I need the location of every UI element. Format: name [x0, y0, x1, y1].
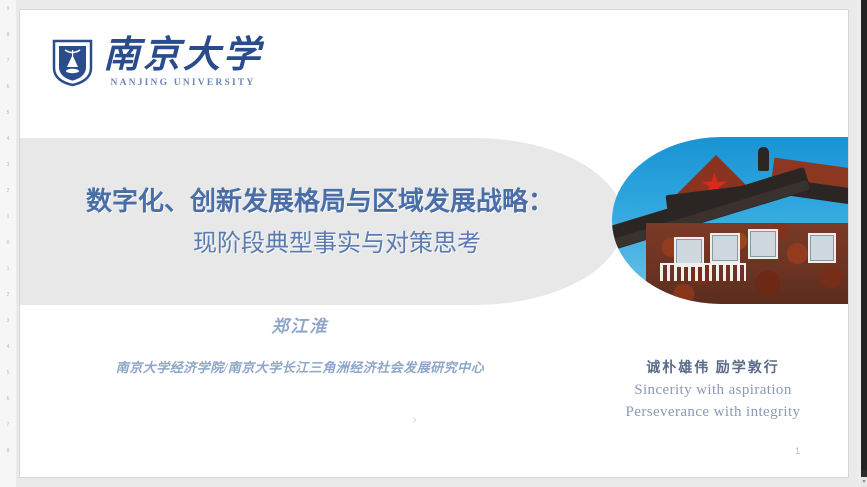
ruler-tick-minor: · [0, 254, 16, 260]
ruler-tick-label: 7 [0, 422, 16, 428]
author-name: 郑江淮 [20, 315, 580, 339]
ruler-tick-label: 9 [0, 6, 16, 12]
motto-english-line2: Perseverance with integrity [588, 401, 838, 423]
ruler-tick-minor: · [0, 384, 16, 390]
ruler-tick-label: 2 [0, 188, 16, 194]
ruler-tick-minor: · [0, 72, 16, 78]
ruler-tick-label: 1 [0, 214, 16, 220]
vertical-scrollbar-thumb[interactable] [861, 0, 867, 470]
vertical-scrollbar-track[interactable]: ▾ [861, 0, 867, 487]
logo-chinese-name: 南京大学 [103, 36, 263, 76]
campus-photo-beidalou [612, 137, 848, 304]
ruler-tick-label: 3 [0, 318, 16, 324]
ruler-tick-label: 4 [0, 344, 16, 350]
ruler-tick-minor: · [0, 98, 16, 104]
ruler-tick-label: 4 [0, 136, 16, 142]
ruler-tick-minor: · [0, 20, 16, 26]
motto-chinese: 诚朴雄伟 励学敦行 [588, 359, 838, 379]
author-block: 郑江淮 南京大学经济学院/南京大学长江三角洲经济社会发展研究中心 [20, 315, 580, 377]
slide-canvas-area[interactable]: 南京大学 NANJING UNIVERSITY [16, 0, 857, 487]
ruler-tick-minor: · [0, 228, 16, 234]
ruler-tick-minor: · [0, 306, 16, 312]
ruler-tick-label: 5 [0, 110, 16, 116]
vertical-ruler[interactable]: 9 · 8 · 7 · 6 · 5 · 4 · 3 · 2 · 1 · 0 · … [0, 0, 17, 487]
ruler-tick-label: 8 [0, 32, 16, 38]
ruler-tick-minor: · [0, 150, 16, 156]
presentation-app-window: 9 · 8 · 7 · 6 · 5 · 4 · 3 · 2 · 1 · 0 · … [0, 0, 867, 487]
slide[interactable]: 南京大学 NANJING UNIVERSITY [20, 10, 848, 477]
building-window [710, 233, 740, 263]
chevron-right-icon: › [412, 414, 417, 427]
ruler-tick-label: 1 [0, 266, 16, 272]
ruler-tick-minor: · [0, 280, 16, 286]
ruler-tick-label: 7 [0, 58, 16, 64]
ruler-tick-minor: · [0, 436, 16, 442]
ruler-tick-minor: · [0, 202, 16, 208]
ruler-tick-minor: · [0, 332, 16, 338]
slide-title-main: 数字化、创新发展格局与区域发展战略： [86, 185, 554, 219]
ruler-tick-label: 0 [0, 240, 16, 246]
university-logo: 南京大学 NANJING UNIVERSITY [52, 36, 263, 89]
ruler-tick-label: 2 [0, 292, 16, 298]
ruler-tick-minor: · [0, 358, 16, 364]
ruler-tick-minor: · [0, 176, 16, 182]
page-number: 1 [795, 446, 800, 457]
slide-header: 南京大学 NANJING UNIVERSITY [20, 10, 848, 138]
ruler-tick-label: 6 [0, 84, 16, 90]
ruler-tick-label: 5 [0, 370, 16, 376]
author-affiliation: 南京大学经济学院/南京大学长江三角洲经济社会发展研究中心 [20, 359, 580, 377]
university-motto: 诚朴雄伟 励学敦行 Sincerity with aspiration Pers… [588, 359, 838, 423]
building-window [808, 233, 836, 263]
ruler-tick-minor: · [0, 124, 16, 130]
logo-wordmark: 南京大学 NANJING UNIVERSITY [103, 36, 263, 89]
scroll-down-icon[interactable]: ▾ [861, 477, 867, 487]
ruler-tick-label: 6 [0, 396, 16, 402]
motto-english-line1: Sincerity with aspiration [588, 379, 838, 401]
shield-crest-icon [52, 38, 93, 87]
roof-finial-shape [758, 147, 769, 171]
slide-title-sub: 现阶段典型事实与对策思考 [159, 227, 481, 259]
slide-title-block: 数字化、创新发展格局与区域发展战略： 现阶段典型事实与对策思考 [20, 138, 620, 305]
right-gutter: ▾ [857, 0, 867, 487]
building-window [748, 229, 778, 259]
campus-photo-image [612, 137, 848, 304]
ruler-tick-label: 3 [0, 162, 16, 168]
balcony-railing [660, 263, 746, 281]
ruler-tick-minor: · [0, 410, 16, 416]
ruler-tick-label: 8 [0, 448, 16, 454]
logo-english-name: NANJING UNIVERSITY [111, 77, 256, 89]
ruler-tick-minor: · [0, 46, 16, 52]
